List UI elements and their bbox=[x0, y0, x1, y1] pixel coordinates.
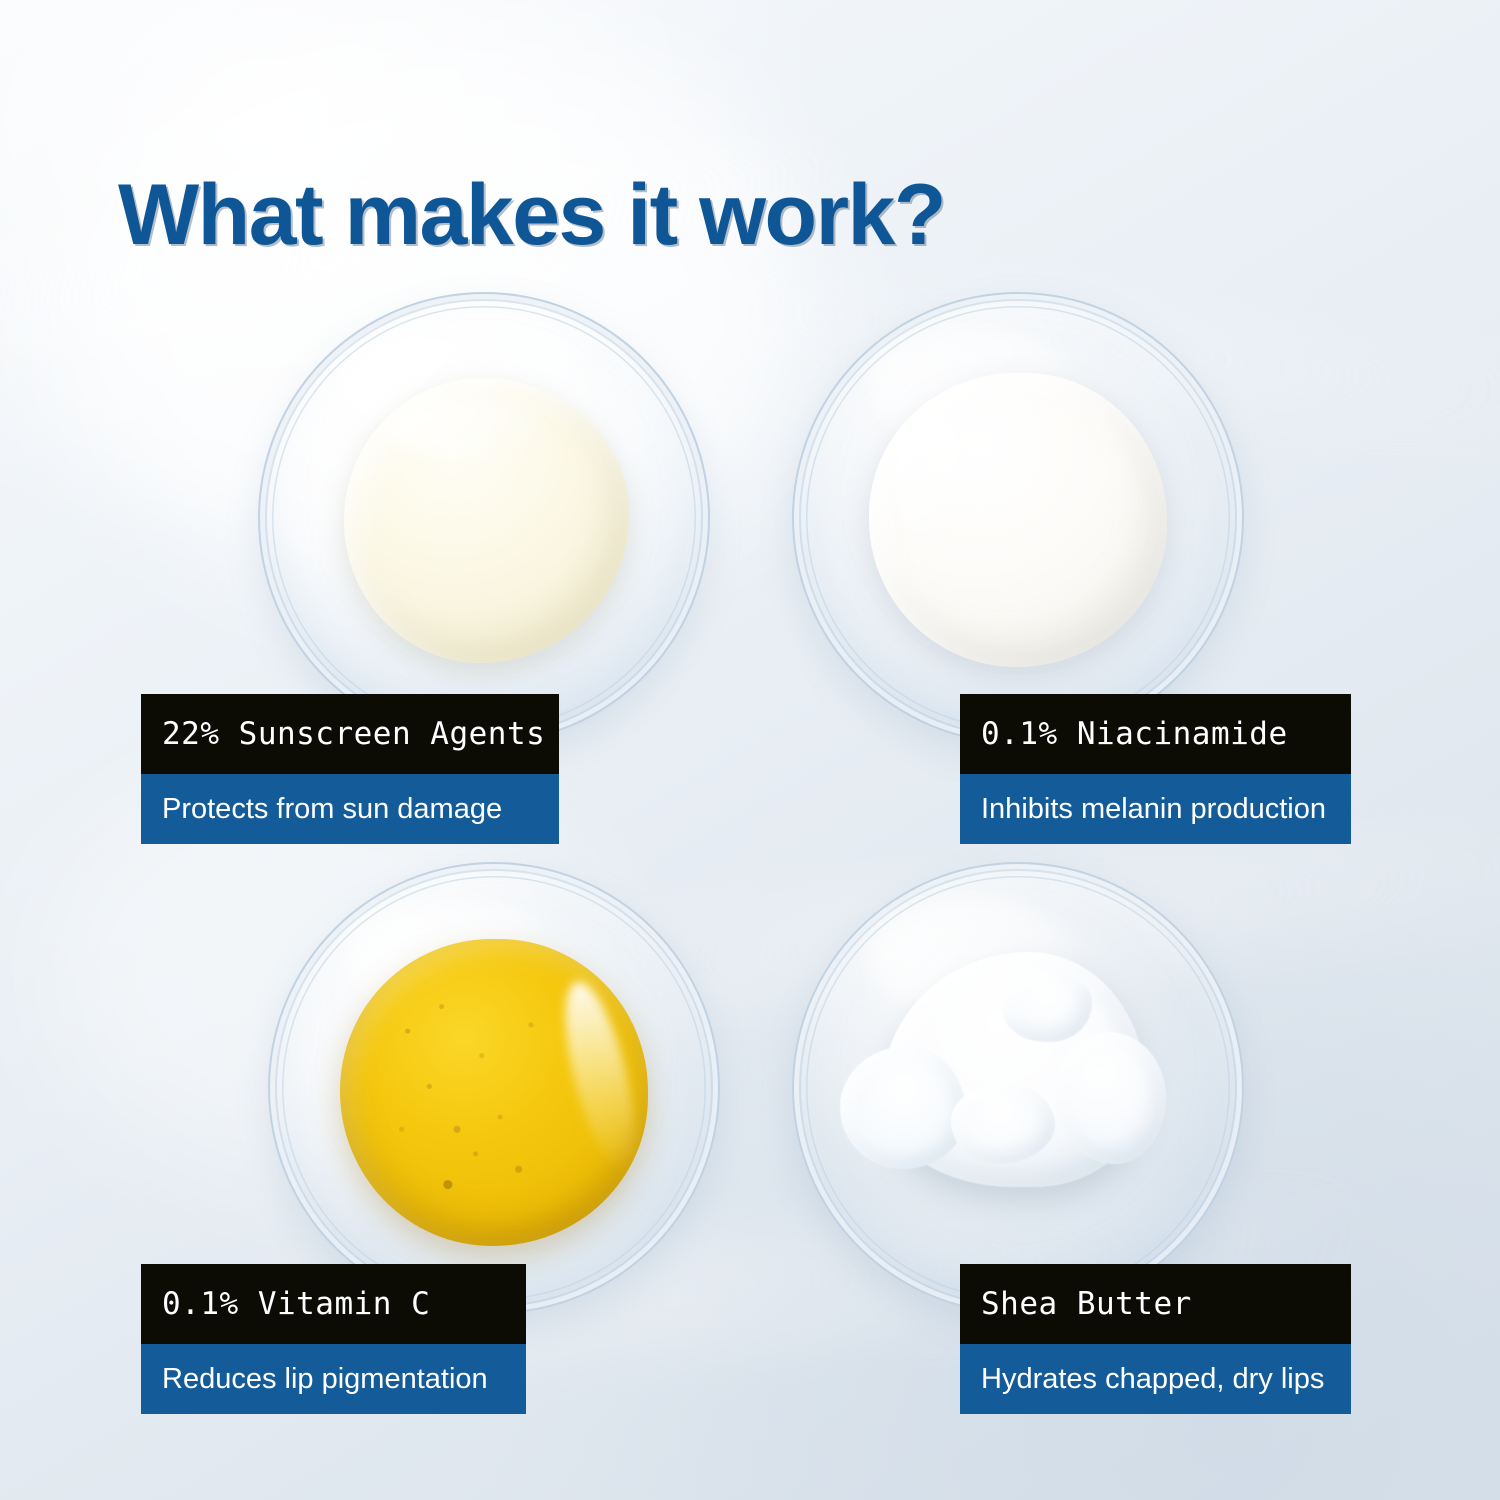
substance-shea-butter bbox=[882, 952, 1144, 1187]
ingredient-infographic: What makes it work? 22% Sunscreen Agents… bbox=[0, 0, 1500, 1500]
ingredient-description-niacinamide: Inhibits melanin production bbox=[960, 774, 1351, 844]
dish-highlight bbox=[869, 898, 1077, 1016]
ingredient-label-sunscreen: 22% Sunscreen Agents Protects from sun d… bbox=[141, 694, 559, 844]
petri-dish-sunscreen bbox=[258, 292, 710, 744]
dish-highlight bbox=[345, 898, 553, 1016]
shea-butter-lobe bbox=[1003, 971, 1092, 1042]
page-title: What makes it work? bbox=[118, 170, 945, 260]
ingredient-title-niacinamide: 0.1% Niacinamide bbox=[960, 694, 1351, 776]
ingredient-title-vitaminc: 0.1% Vitamin C bbox=[141, 1264, 526, 1346]
ingredient-title-sunscreen: 22% Sunscreen Agents bbox=[141, 694, 559, 776]
substance-sunscreen-cream bbox=[344, 378, 629, 663]
ingredient-label-sheabutter: Shea Butter Hydrates chapped, dry lips bbox=[960, 1264, 1351, 1414]
substance-vitaminc-oil bbox=[340, 939, 647, 1246]
ingredient-label-vitaminc: 0.1% Vitamin C Reduces lip pigmentation bbox=[141, 1264, 526, 1414]
dish-highlight bbox=[335, 328, 543, 446]
shea-butter-lobe bbox=[951, 1084, 1056, 1164]
petri-dish-vitaminc bbox=[268, 862, 720, 1314]
petri-dish-sheabutter bbox=[792, 862, 1244, 1314]
ingredient-description-vitaminc: Reduces lip pigmentation bbox=[141, 1344, 526, 1414]
ingredient-description-sunscreen: Protects from sun damage bbox=[141, 774, 559, 844]
petri-dish-niacinamide bbox=[792, 292, 1244, 744]
dish-highlight bbox=[869, 328, 1077, 446]
substance-niacinamide-cream bbox=[869, 373, 1167, 667]
ingredient-label-niacinamide: 0.1% Niacinamide Inhibits melanin produc… bbox=[960, 694, 1351, 844]
ingredient-description-sheabutter: Hydrates chapped, dry lips bbox=[960, 1344, 1351, 1414]
ingredient-title-sheabutter: Shea Butter bbox=[960, 1264, 1351, 1346]
